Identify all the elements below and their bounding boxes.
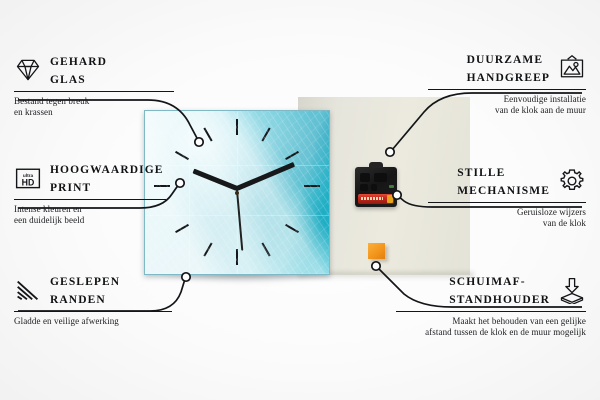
ultra-hd-icon: ultra HD — [14, 164, 42, 192]
picture-frame-icon — [558, 54, 586, 82]
mechanism-hanger — [369, 162, 383, 168]
clock-tick-2 — [285, 151, 299, 160]
callout-header: GESLEPEN RANDEN — [14, 272, 172, 308]
callout-title-line1: DUURZAME — [467, 54, 544, 66]
mechanism-block-3 — [360, 184, 368, 191]
foam-spacer — [368, 243, 385, 259]
callout-title-line1: GEHARD — [50, 56, 107, 68]
callout-divider — [428, 202, 586, 203]
callout-divider — [396, 311, 586, 312]
spacer-press-icon — [558, 276, 586, 304]
callout-desc-line1: Maakt het behouden van een gelijke — [396, 316, 586, 327]
clock-minute-hand — [236, 162, 295, 191]
mechanism-block-4 — [371, 184, 377, 191]
callout-title-line2: GLAS — [50, 74, 86, 86]
callout-title-line1: SCHUIMAF- — [449, 276, 525, 288]
callout-header: SCHUIMAF- STANDHOUDER — [396, 272, 586, 308]
callout-desc-line1: Bestand tegen breuk — [14, 96, 174, 107]
callout-divider — [428, 89, 586, 90]
callout-divider — [14, 311, 172, 312]
callout-desc-line1: Intense kleuren en — [14, 204, 166, 215]
callout-title-line1: STILLE — [457, 167, 505, 179]
bevelled-edges-icon — [14, 276, 42, 304]
callout-desc-line2: afstand tussen de klok en de muur mogeli… — [396, 327, 586, 338]
callout-header: GEHARD GLAS — [14, 52, 174, 88]
callout-divider — [14, 91, 174, 92]
callout-desc-line1: Eenvoudige installatie — [428, 94, 586, 105]
clock-tick-10 — [175, 151, 189, 160]
callout-desc-line1: Geruisloze wijzers — [428, 207, 586, 218]
clock-mechanism — [355, 167, 397, 207]
callout-header: DUURZAME HANDGREEP — [428, 50, 586, 86]
callout-duurzame-handgreep[interactable]: DUURZAME HANDGREEP Eenvoudige installati… — [428, 50, 586, 116]
callout-title-line2: STANDHOUDER — [449, 294, 550, 306]
callout-title-line2: HANDGREEP — [467, 72, 550, 84]
callout-stille-mechanisme[interactable]: STILLE MECHANISME Geruisloze wijzers van… — [428, 163, 586, 229]
mechanism-green-led — [389, 185, 394, 188]
callout-title: GEHARD GLAS — [50, 52, 107, 88]
clock-tick-5 — [261, 243, 270, 257]
pane-seam-horizontal — [145, 165, 329, 166]
callout-desc-line2: van de klok — [428, 218, 586, 229]
callout-desc-line2: van de klok aan de muur — [428, 105, 586, 116]
pane-seam-vertical — [189, 111, 190, 274]
clock-tick-6 — [236, 249, 238, 265]
clock-second-hand — [236, 188, 243, 251]
callout-schuimafstandhouder[interactable]: SCHUIMAF- STANDHOUDER Maakt het behouden… — [396, 272, 586, 338]
callout-gehard-glas[interactable]: GEHARD GLAS Bestand tegen breuk en krass… — [14, 52, 174, 118]
clock-tick-7 — [203, 243, 212, 257]
callout-title: HOOGWAARDIGE PRINT — [50, 160, 164, 196]
callout-header: STILLE MECHANISME — [428, 163, 586, 199]
callout-desc-line2: een duidelijk beeld — [14, 215, 166, 226]
callout-title-line1: HOOGWAARDIGE — [50, 164, 164, 176]
glass-wall-clock — [144, 110, 330, 275]
clock-hour-hand — [192, 169, 237, 191]
callout-header: ultra HD HOOGWAARDIGE PRINT — [14, 160, 166, 196]
callout-title-line2: MECHANISME — [457, 185, 550, 197]
clock-tick-8 — [175, 224, 189, 233]
clock-tick-11 — [203, 128, 212, 142]
svg-text:HD: HD — [22, 177, 35, 187]
callout-title: GESLEPEN RANDEN — [50, 272, 120, 308]
callout-title-line2: PRINT — [50, 182, 91, 194]
clock-tick-4 — [285, 224, 299, 233]
battery-label — [361, 197, 383, 200]
mechanism-block-2 — [374, 173, 387, 182]
callout-desc-line2: en krassen — [14, 107, 174, 118]
callout-title-line2: RANDEN — [50, 294, 106, 306]
clock-tick-12 — [236, 119, 238, 135]
callout-title: DUURZAME HANDGREEP — [467, 50, 550, 86]
mechanism-block-1 — [360, 173, 370, 182]
callout-title: STILLE MECHANISME — [457, 163, 550, 199]
callout-divider — [14, 199, 166, 200]
clock-tick-3 — [304, 185, 320, 187]
callout-geslepen-randen[interactable]: GESLEPEN RANDEN Gladde en veilige afwerk… — [14, 272, 172, 327]
infographic-canvas: GEHARD GLAS Bestand tegen breuk en krass… — [0, 0, 600, 400]
mechanism-battery — [358, 194, 394, 204]
callout-title: SCHUIMAF- STANDHOUDER — [449, 272, 550, 308]
clock-center-cap — [235, 191, 239, 195]
callout-title-line1: GESLEPEN — [50, 276, 120, 288]
callout-desc-line1: Gladde en veilige afwerking — [14, 316, 172, 327]
diamond-icon — [14, 56, 42, 84]
clock-tick-1 — [261, 128, 270, 142]
battery-terminal — [387, 195, 393, 203]
callout-hoogwaardige-print[interactable]: ultra HD HOOGWAARDIGE PRINT Intense kleu… — [14, 160, 166, 226]
pane-seam-horizontal-2 — [145, 215, 329, 216]
gear-icon — [558, 167, 586, 195]
